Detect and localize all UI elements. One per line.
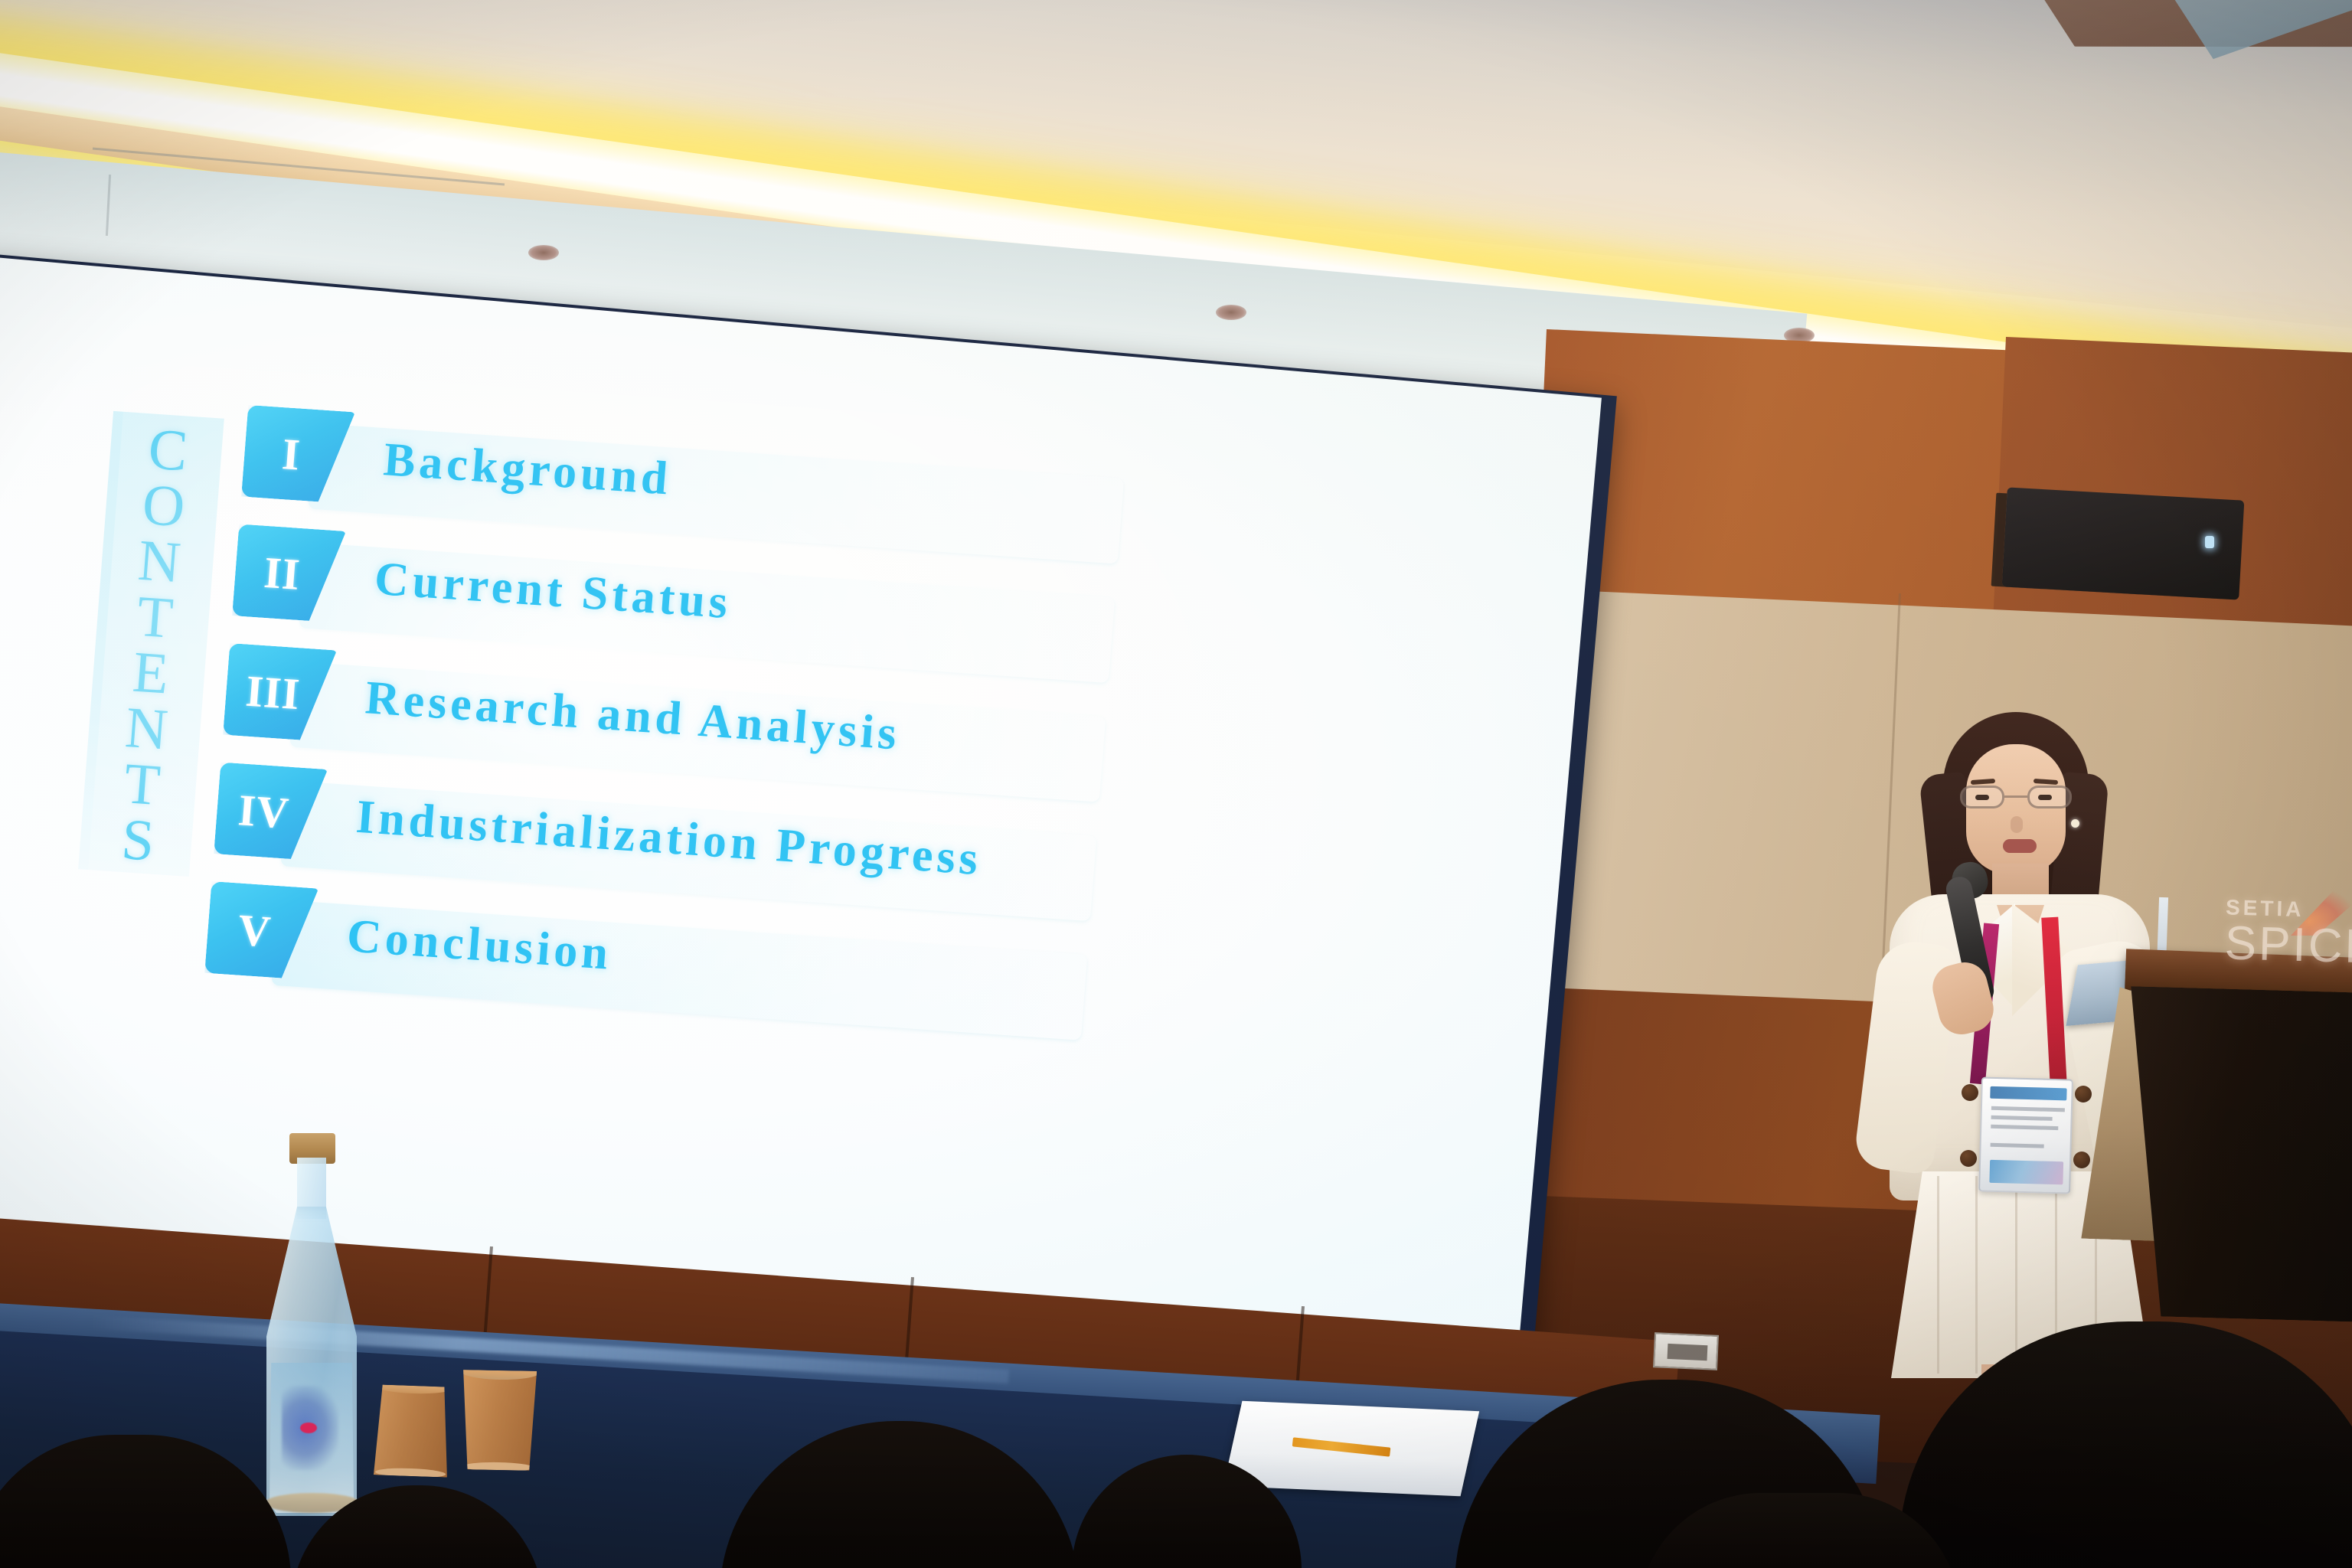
- contents-letter: T: [122, 756, 162, 814]
- speaker-power-led-icon: [2205, 536, 2214, 548]
- conference-badge: [1978, 1076, 2073, 1194]
- projection-screen: C O N T E N T S I Background: [0, 256, 1602, 1385]
- presenter-mouth: [2003, 839, 2037, 853]
- list-item-numeral: IV: [237, 784, 291, 838]
- jacket-button-icon: [2073, 1151, 2090, 1168]
- contents-list: I Background II Current Status III: [202, 405, 1241, 1068]
- recessed-downlight-icon: [528, 245, 559, 260]
- contents-letter: S: [119, 812, 156, 870]
- presenter-nose: [2011, 816, 2023, 833]
- list-item-numeral: V: [237, 903, 273, 957]
- contents-letter: T: [136, 589, 175, 647]
- jacket-button-icon: [1962, 1084, 1978, 1101]
- paper-cup-inverted: [374, 1384, 450, 1477]
- list-item-numeral: II: [262, 546, 302, 599]
- presenter-face: [1966, 744, 2066, 874]
- conference-room-photo: C O N T E N T S I Background: [0, 0, 2352, 1568]
- jacket-button-icon: [1960, 1150, 1977, 1167]
- paper-cup-upright: [462, 1370, 537, 1471]
- presenter-eye-right: [2038, 795, 2052, 800]
- earring-icon: [2071, 819, 2079, 828]
- contents-letter: O: [141, 477, 187, 535]
- contents-letter: C: [146, 421, 189, 479]
- presenter-eye-left: [1975, 795, 1989, 800]
- jacket-button-icon: [2075, 1086, 2092, 1102]
- list-item-numeral: I: [280, 428, 302, 480]
- bottle-label-accent: [300, 1423, 317, 1433]
- power-socket-icon: [1653, 1332, 1719, 1370]
- recessed-downlight-icon: [1216, 305, 1246, 320]
- contents-letter: N: [136, 533, 182, 591]
- water-bottle: [266, 1133, 357, 1516]
- contents-letter: N: [123, 700, 169, 758]
- list-item-numeral: III: [244, 665, 302, 720]
- venue-wall-sign: SETIA SPICE: [2224, 895, 2352, 983]
- contents-letter: E: [131, 644, 171, 702]
- venue-sign-line2: SPICE: [2224, 921, 2352, 970]
